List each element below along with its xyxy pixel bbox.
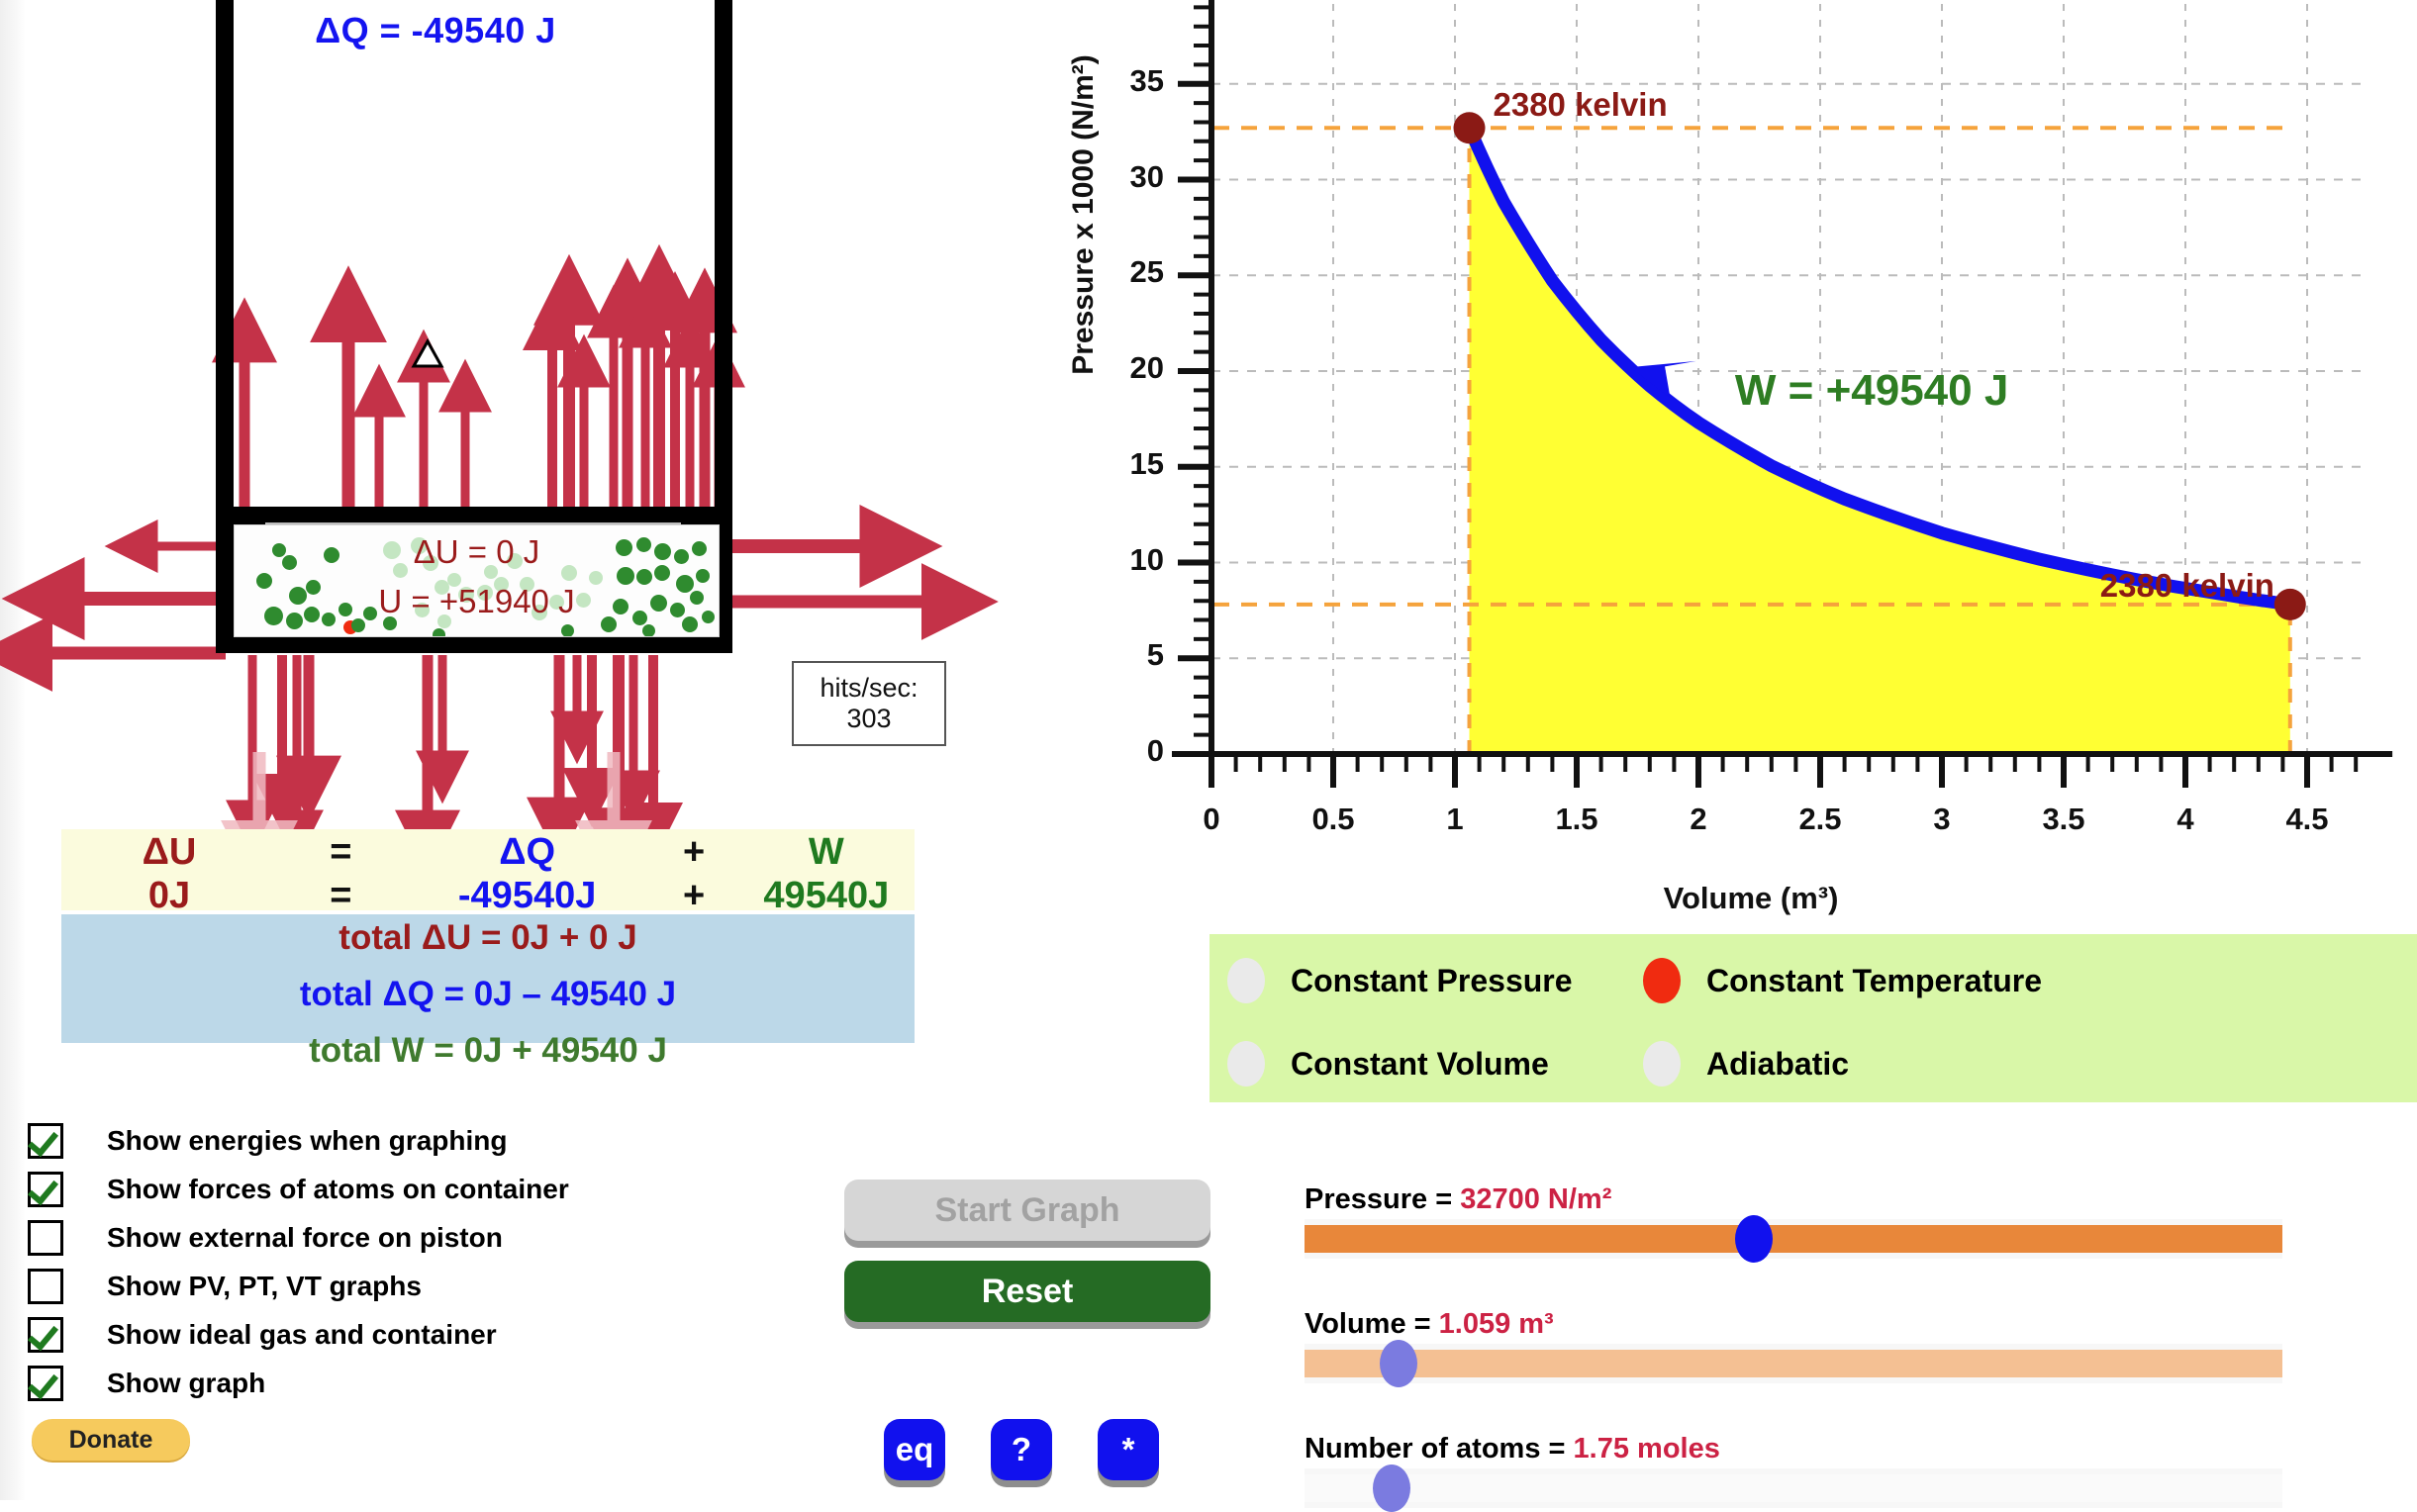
eq-value-equals-2: =: [277, 875, 405, 917]
radio-constant-volume[interactable]: Constant Volume: [1227, 1041, 1549, 1087]
pressure-slider-fill: [1305, 1225, 2282, 1253]
chart-annotation: W = +49540 J: [1735, 366, 2008, 416]
donate-button[interactable]: Donate: [32, 1419, 190, 1461]
ideal-gas-chamber: ΔU = 0 J U = +51940 J: [234, 524, 720, 637]
pressure-slider-track[interactable]: [1305, 1219, 2282, 1259]
checkbox-show-graph-icon[interactable]: [28, 1366, 63, 1401]
eq-value-plus-2: +: [649, 875, 737, 917]
y-tick-label: 35: [1095, 63, 1164, 99]
heat-transfer-label: ΔQ = -49540 J: [228, 10, 643, 51]
y-tick-label: 20: [1095, 350, 1164, 386]
total-delta-q: total ΔQ = 0J – 49540 J: [61, 975, 915, 1014]
y-tick-label: 30: [1095, 159, 1164, 195]
checkbox-row-show-ideal-gas[interactable]: Show ideal gas and container: [28, 1310, 740, 1359]
radio-adiabatic-icon[interactable]: [1643, 1041, 1681, 1087]
start-graph-button[interactable]: Start Graph: [844, 1180, 1210, 1241]
pressure-slider-group: Pressure = 32700 N/m²: [1305, 1183, 2284, 1216]
internal-energy-label: U = +51940 J: [235, 583, 719, 620]
radio-constant-pressure-icon[interactable]: [1227, 958, 1265, 1003]
x-tick-label: 2.5: [1776, 802, 1865, 837]
reset-button[interactable]: Reset: [844, 1261, 1210, 1322]
gas-simulation-panel: ΔQ = -49540 J: [0, 0, 1000, 851]
eq-value-w: 49540J: [738, 875, 915, 917]
volume-value: 1.059 m³: [1439, 1308, 1554, 1340]
eq-symbol-dq: ΔQ: [405, 831, 650, 874]
equation-value-row: 0J = -49540J + 49540J: [61, 875, 915, 917]
volume-slider-fill: [1305, 1350, 2282, 1377]
cylinder-left-wall: [216, 0, 234, 653]
eq-symbol-w: W: [738, 831, 915, 874]
x-tick-label: 3.5: [2019, 802, 2108, 837]
x-tick-label: 0: [1167, 802, 1256, 837]
atoms-value: 1.75 moles: [1574, 1433, 1720, 1465]
eq-value-dq: -49540J: [405, 875, 650, 917]
eq-symbol-du: ΔU: [61, 831, 277, 874]
y-tick-label: 10: [1095, 542, 1164, 578]
checkbox-row-show-energies[interactable]: Show energies when graphing: [28, 1116, 740, 1165]
pressure-label-text: Pressure =: [1305, 1183, 1460, 1215]
volume-slider-group: Volume = 1.059 m³: [1305, 1308, 2284, 1341]
radio-constant-temperature-label: Constant Temperature: [1706, 963, 2042, 999]
thermodynamics-simulation-app: ΔQ = -49540 J: [0, 0, 2417, 1500]
eq-symbol-equals-1: =: [277, 831, 405, 874]
total-work: total W = 0J + 49540 J: [61, 1031, 915, 1071]
process-type-panel: Constant Pressure Constant Volume Consta…: [1209, 934, 2417, 1102]
checkbox-row-show-external-force[interactable]: Show external force on piston: [28, 1213, 740, 1262]
hits-per-second-title: hits/sec:: [820, 673, 918, 704]
checkbox-show-pv-pt-vt-icon[interactable]: [28, 1269, 63, 1304]
volume-slider-track[interactable]: [1305, 1344, 2282, 1383]
equation-symbol-row: ΔU = ΔQ + W: [61, 831, 915, 874]
pressure-value: 32700 N/m²: [1460, 1183, 1611, 1215]
chart-annotation: 2380 kelvin: [2100, 567, 2274, 605]
x-tick-label: 3: [1897, 802, 1986, 837]
checkbox-row-show-pv-pt-vt[interactable]: Show PV, PT, VT graphs: [28, 1262, 740, 1310]
x-tick-label: 0.5: [1289, 802, 1378, 837]
radio-constant-temperature-icon[interactable]: [1643, 958, 1681, 1003]
radio-adiabatic-label: Adiabatic: [1706, 1046, 1849, 1083]
y-tick-label: 5: [1095, 637, 1164, 673]
volume-label-text: Volume =: [1305, 1308, 1439, 1340]
eq-symbol-plus-1: +: [649, 831, 737, 874]
atoms-slider-track[interactable]: [1305, 1468, 2282, 1508]
chart-canvas: [1049, 0, 2417, 920]
checkbox-show-energies-icon[interactable]: [28, 1123, 63, 1159]
chart-x-axis-label: Volume (m³): [1211, 881, 2290, 916]
cylinder-bottom-wall: [216, 635, 732, 653]
help-button[interactable]: ?: [991, 1419, 1052, 1480]
y-tick-label: 15: [1095, 446, 1164, 482]
x-tick-label: 4: [2141, 802, 2230, 837]
checkbox-show-ideal-gas-icon[interactable]: [28, 1317, 63, 1353]
checkbox-label-show-ideal-gas: Show ideal gas and container: [107, 1319, 497, 1351]
eq-value-du: 0J: [61, 875, 277, 917]
atoms-slider-label: Number of atoms = 1.75 moles: [1305, 1433, 2284, 1465]
checkbox-show-forces-icon[interactable]: [28, 1172, 63, 1207]
radio-constant-pressure[interactable]: Constant Pressure: [1227, 958, 1573, 1003]
x-tick-label: 4.5: [2263, 802, 2352, 837]
equations-button[interactable]: eq: [884, 1419, 945, 1480]
radio-constant-pressure-label: Constant Pressure: [1291, 963, 1573, 999]
radio-constant-volume-label: Constant Volume: [1291, 1046, 1549, 1083]
x-tick-label: 2: [1654, 802, 1743, 837]
checkbox-label-show-energies: Show energies when graphing: [107, 1125, 508, 1157]
pressure-slider-label: Pressure = 32700 N/m²: [1305, 1183, 2284, 1216]
chart-annotation: 2380 kelvin: [1494, 86, 1668, 124]
checkbox-row-show-forces[interactable]: Show forces of atoms on container: [28, 1165, 740, 1213]
y-tick-label: 0: [1095, 733, 1164, 769]
volume-slider-label: Volume = 1.059 m³: [1305, 1308, 2284, 1341]
y-tick-label: 40: [1095, 0, 1164, 3]
checkbox-label-show-external-force: Show external force on piston: [107, 1222, 503, 1254]
x-tick-label: 1: [1410, 802, 1499, 837]
hits-per-second-value: 303: [846, 704, 891, 734]
checkbox-row-show-graph[interactable]: Show graph: [28, 1359, 740, 1407]
y-tick-label: 25: [1095, 254, 1164, 290]
volume-slider-thumb[interactable]: [1380, 1340, 1417, 1387]
radio-adiabatic[interactable]: Adiabatic: [1643, 1041, 1849, 1087]
delta-u-label: ΔU = 0 J: [235, 533, 719, 571]
hits-per-second-readout: hits/sec: 303: [792, 661, 946, 746]
star-button[interactable]: *: [1098, 1419, 1159, 1480]
atoms-slider-thumb[interactable]: [1373, 1465, 1410, 1512]
checkbox-label-show-forces: Show forces of atoms on container: [107, 1174, 569, 1205]
atoms-slider-fill: [1305, 1474, 2282, 1502]
x-tick-label: 1.5: [1532, 802, 1621, 837]
radio-constant-temperature[interactable]: Constant Temperature: [1643, 958, 2042, 1003]
pressure-slider-thumb[interactable]: [1735, 1215, 1773, 1263]
atoms-label-text: Number of atoms =: [1305, 1433, 1574, 1465]
total-delta-u: total ΔU = 0J + 0 J: [61, 918, 915, 958]
display-options-list: Show energies when graphing Show forces …: [28, 1116, 740, 1407]
checkbox-show-external-force-icon[interactable]: [28, 1220, 63, 1256]
atoms-slider-group: Number of atoms = 1.75 moles: [1305, 1433, 2284, 1465]
checkbox-label-show-pv-pt-vt: Show PV, PT, VT graphs: [107, 1271, 422, 1302]
radio-constant-volume-icon[interactable]: [1227, 1041, 1265, 1087]
checkbox-label-show-graph: Show graph: [107, 1368, 265, 1399]
